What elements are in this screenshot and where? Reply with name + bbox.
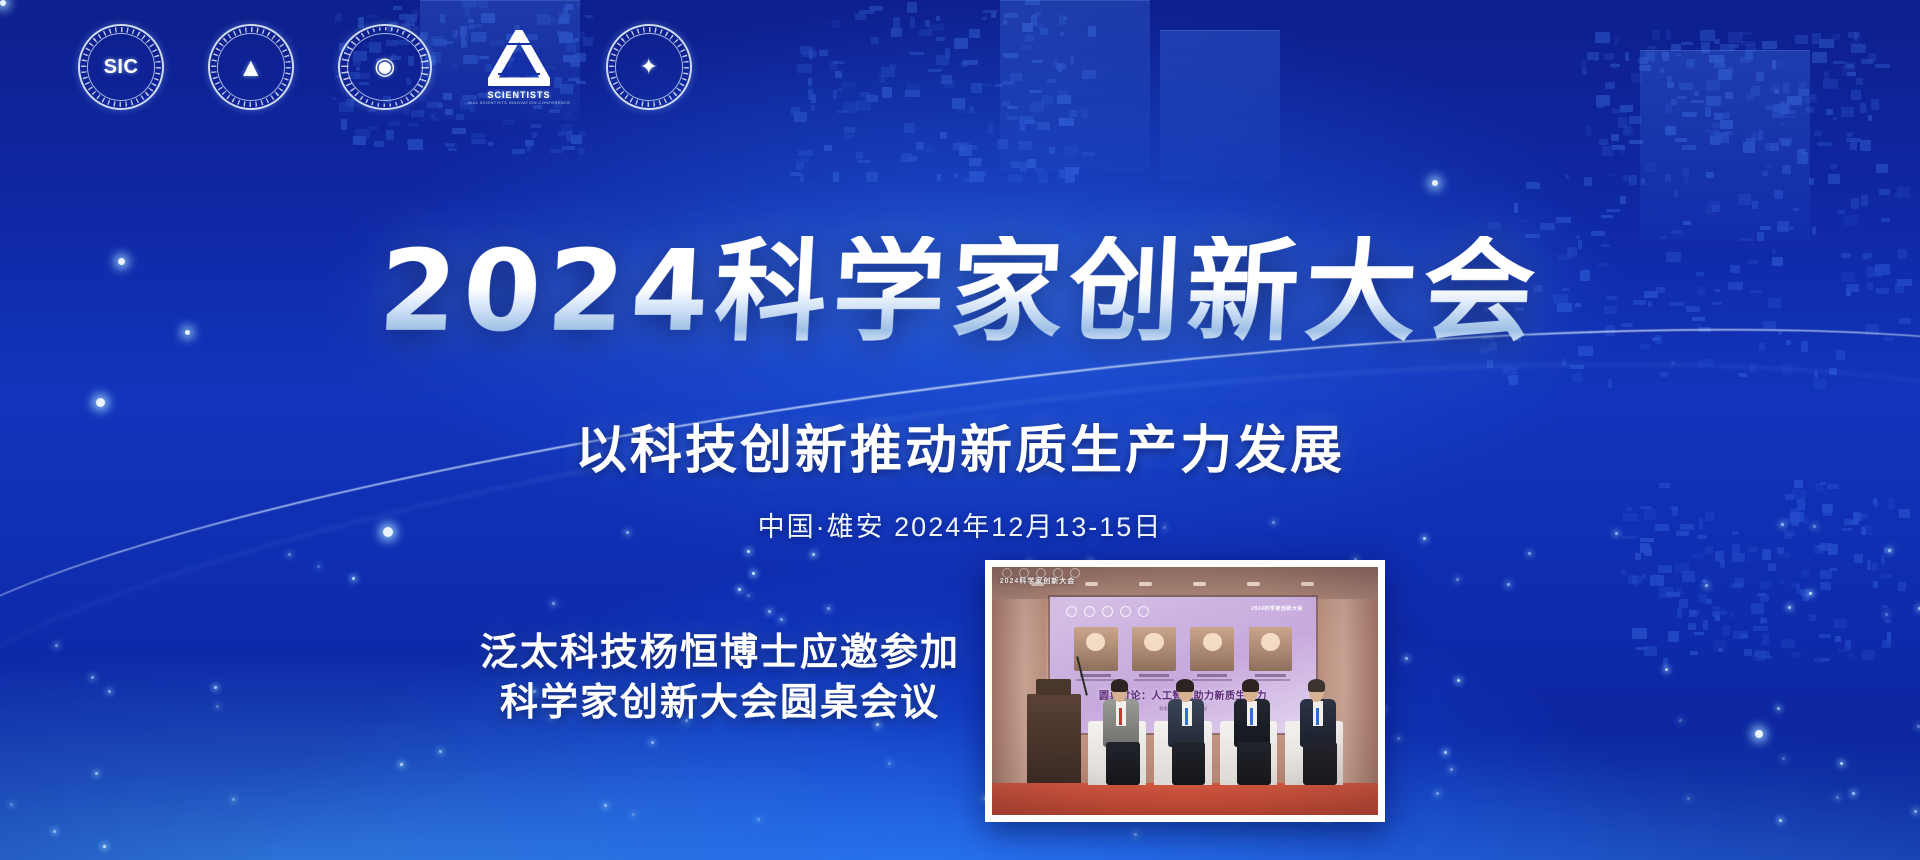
triangle-logo-subcaption: 2024 SCIENTISTS INNOVATION CONFERENCE: [468, 100, 571, 105]
seal-logo-triangle: ▲: [208, 24, 294, 110]
triangle-mark-icon: [488, 30, 550, 86]
poster-dateline: 中国·雄安 2024年12月13-15日: [0, 505, 1920, 544]
seal-logo-atom: ◉: [338, 24, 432, 110]
seal-core-label: ▲: [238, 54, 264, 80]
seal-core-label: SIC: [104, 57, 139, 77]
poster-caption: 泛太科技杨恒博士应邀参加 科学家创新大会圆桌会议: [470, 628, 970, 728]
triangle-logo-caption: SCIENTISTS: [487, 90, 550, 100]
photo-vignette: [992, 567, 1378, 815]
spark-5: [0, 0, 6, 6]
seal-core-label: ✦: [640, 56, 659, 78]
caption-line-1: 泛太科技杨恒博士应邀参加: [470, 628, 970, 678]
caption-line-2: 科学家创新大会圆桌会议: [470, 678, 970, 728]
spark-6: [1755, 730, 1763, 738]
seal-logo-shield: ✦: [606, 24, 692, 110]
building-silhouette-1: [1000, 0, 1150, 171]
organizer-logos: SIC ▲ ◉ SCIENTISTS 2024 SCIENTISTS INNO: [78, 24, 692, 110]
event-photo-image: 2024科学家创新大会 2024科学家创新大会 圆桌讨论：人工智能助力新质生产力…: [992, 567, 1378, 815]
conference-poster: SIC ▲ ◉ SCIENTISTS 2024 SCIENTISTS INNO: [0, 0, 1920, 860]
building-silhouette-3: [1640, 50, 1810, 241]
event-photo: 2024科学家创新大会 2024科学家创新大会 圆桌讨论：人工智能助力新质生产力…: [985, 560, 1385, 822]
seal-logo-sic: SIC: [78, 24, 164, 110]
spark-7: [1432, 180, 1438, 186]
data-block-field-center: [790, 0, 1090, 180]
spark-3: [96, 398, 105, 407]
data-block-field-bottom: [1580, 30, 1880, 150]
triangle-logo: SCIENTISTS 2024 SCIENTISTS INNOVATION CO…: [476, 24, 562, 110]
seal-core-label: ◉: [374, 55, 395, 79]
building-silhouette-2: [1160, 30, 1280, 181]
poster-subtitle: 以科技创新推动新质生产力发展: [0, 408, 1920, 483]
poster-headline: 2024科学家创新大会: [0, 236, 1920, 348]
